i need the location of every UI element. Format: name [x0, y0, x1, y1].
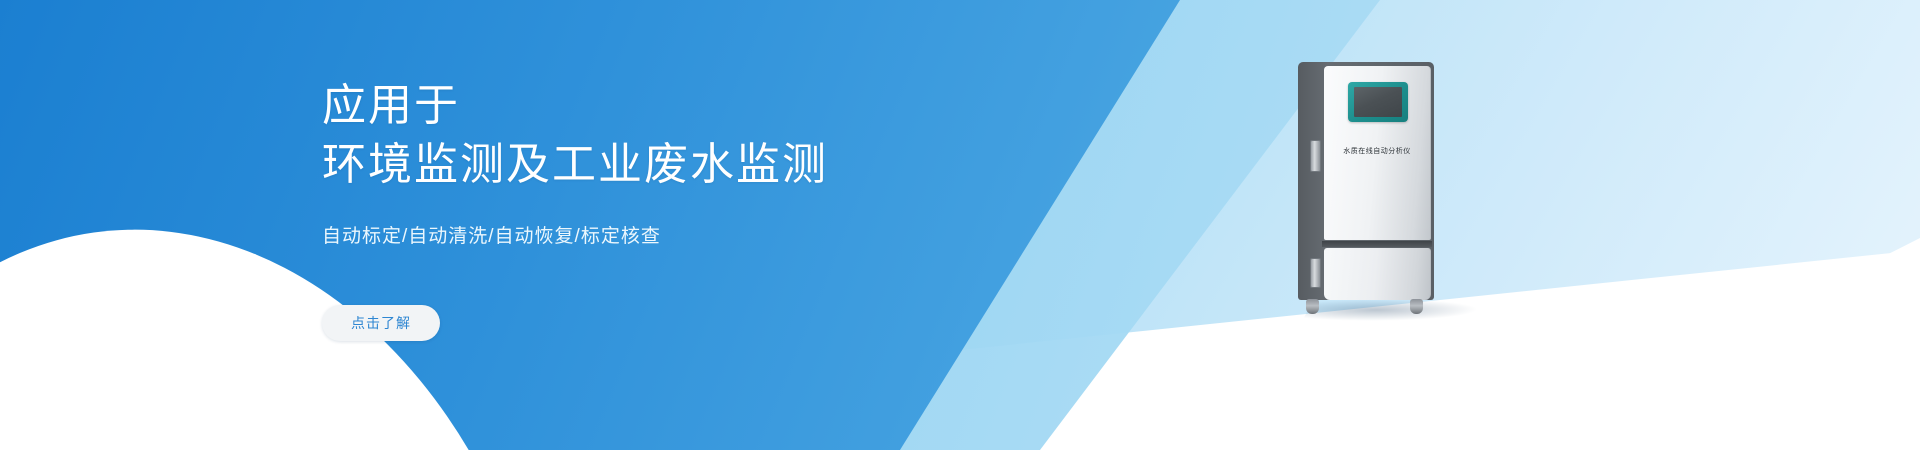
device-lower-door	[1324, 248, 1431, 300]
banner-headline-line-2: 环境监测及工业废水监测	[322, 136, 1042, 194]
device-ground-shadow	[1302, 299, 1484, 321]
banner-headline-line-1: 应用于	[322, 77, 1042, 135]
hero-banner: 应用于 环境监测及工业废水监测 自动标定/自动清洗/自动恢复/标定核查 点击了解…	[0, 0, 1920, 450]
device-caster-right	[1410, 299, 1423, 314]
learn-more-button[interactable]: 点击了解	[322, 305, 440, 341]
device-screen-bezel	[1348, 82, 1408, 122]
device-door-seam	[1322, 241, 1432, 247]
banner-copy-block: 应用于 环境监测及工业废水监测 自动标定/自动清洗/自动恢复/标定核查 点击了解	[322, 48, 1042, 341]
device-panel-label: 水质在线自动分析仪	[1324, 146, 1430, 156]
banner-headline: 应用于 环境监测及工业废水监测	[322, 77, 1042, 193]
water-quality-analyzer-illustration: 水质在线自动分析仪	[1298, 62, 1434, 314]
device-lower-handle	[1310, 258, 1321, 288]
device-display	[1354, 87, 1402, 117]
device-caster-left	[1306, 299, 1319, 314]
device-upper-handle	[1310, 140, 1321, 172]
banner-subheadline: 自动标定/自动清洗/自动恢复/标定核查	[322, 223, 1042, 252]
